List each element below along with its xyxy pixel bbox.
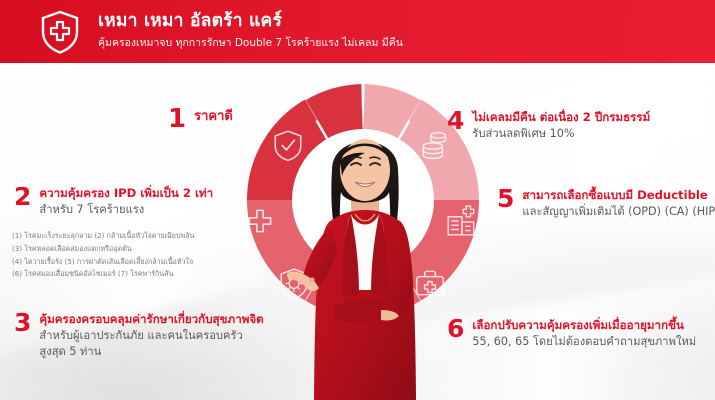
feature-line: สำหรับผู้เอาประกันภัย และคนในครอบครัว [39,328,263,344]
feature-body: คุ้มครองครอบคลุมค่ารักษาเกี่ยวกับสุขภาพจ… [39,312,263,360]
feature-title: เลือกปรับความคุ้มครองเพิ่มเมื่ออายุมากขึ… [472,318,696,334]
feature-body: ไม่เคลมมีคืน ต่อเนื่อง 2 ปีกรมธรรม์ รับส… [472,110,650,142]
feature-item-3: 3 คุ้มครองครอบคลุมค่ารักษาเกี่ยวกับสุขภา… [14,312,264,360]
feature-body: เลือกปรับความคุ้มครองเพิ่มเมื่ออายุมากขึ… [472,318,696,350]
ring-arc-4b [364,281,409,294]
feature-body: สามารถเลือกซื้อแบบมี Deductible และสัญญา… [522,188,715,220]
feature-body: ความคุ้มครอง IPD เพิ่มเป็น 2 เท่า สำหรับ… [39,186,213,218]
list-item: (4) ไตวายเรื้อรัง (5) การผ่าตัดเส้นเลือด… [12,256,194,269]
feature-item-2: 2 ความคุ้มครอง IPD เพิ่มเป็น 2 เท่า สำหร… [14,186,213,218]
feature-number: 5 [497,186,514,211]
feature-title: คุ้มครองครอบคลุมค่ารักษาเกี่ยวกับสุขภาพจ… [39,312,263,328]
feature-item-6: 6 เลือกปรับความคุ้มครองเพิ่มเมื่ออายุมาก… [447,318,696,350]
header-text-block: เหมา เหมา อัลตร้า แคร์ คุ้มครองเหมาจบ ทุ… [98,11,403,52]
ring-arc-top-left-half [317,107,362,120]
insurance-infographic-page: เหมา เหมา อัลตร้า แคร์ คุ้มครองเหมาจบ ทุ… [0,0,715,400]
feature-number: 6 [447,316,464,341]
list-item: (3) โรคหลอดเลือดสมองแตกหรืออุดตัน [12,243,194,256]
ring-inner-hole [292,129,434,271]
feature-number: 2 [14,184,31,209]
feature-title: ราคาดี [194,108,233,126]
ring-arc-top-right-half [364,107,409,120]
page-title: เหมา เหมา อัลตร้า แคร์ [98,11,403,33]
shield-cross-icon [36,8,84,56]
critical-illness-list: (1) โรคมะเร็งระยะลุกลาม (2) กล้ามเนื้อหั… [12,230,194,281]
feature-number: 4 [447,108,464,133]
feature-item-1: 1 ราคาดี [168,108,233,132]
feature-number: 1 [168,106,186,132]
list-item: (6) โรคสมองเสื่อมชนิดอัลไซเมอร์ (7) โรคพ… [12,268,194,281]
page-header: เหมา เหมา อัลตร้า แคร์ คุ้มครองเหมาจบ ทุ… [0,0,715,63]
feature-item-4: 4 ไม่เคลมมีคืน ต่อเนื่อง 2 ปีกรมธรรม์ รั… [447,110,650,142]
feature-title: ความคุ้มครอง IPD เพิ่มเป็น 2 เท่า [39,186,213,202]
ring-arc-5 [317,281,362,294]
feature-number: 3 [14,310,31,335]
feature-title: สามารถเลือกซื้อแบบมี Deductible [522,188,715,204]
feature-item-5: 5 สามารถเลือกซื้อแบบมี Deductible และสัญ… [497,188,715,220]
feature-line: รับส่วนลดพิเศษ 10% [472,126,650,142]
feature-body: ราคาดี [194,108,233,126]
feature-line: 55, 60, 65 โดยไม่ต้องตอบคำถามสุขภาพใหม่ [472,334,696,350]
list-item: (1) โรคมะเร็งระยะลุกลาม (2) กล้ามเนื้อหั… [12,230,194,243]
page-subtitle: คุ้มครองเหมาจบ ทุกการรักษา Double 7 โรคร… [98,36,403,52]
donut-ring-graphic [247,84,479,316]
feature-title: ไม่เคลมมีคืน ต่อเนื่อง 2 ปีกรมธรรม์ [472,110,650,126]
feature-line: และสัญญาเพิ่มเติมได้ (OPD) (CA) (HIP) [522,204,715,220]
feature-line: สูงสุด 5 ท่าน [39,344,263,360]
feature-line: สำหรับ 7 โรคร้ายแรง [39,202,213,218]
